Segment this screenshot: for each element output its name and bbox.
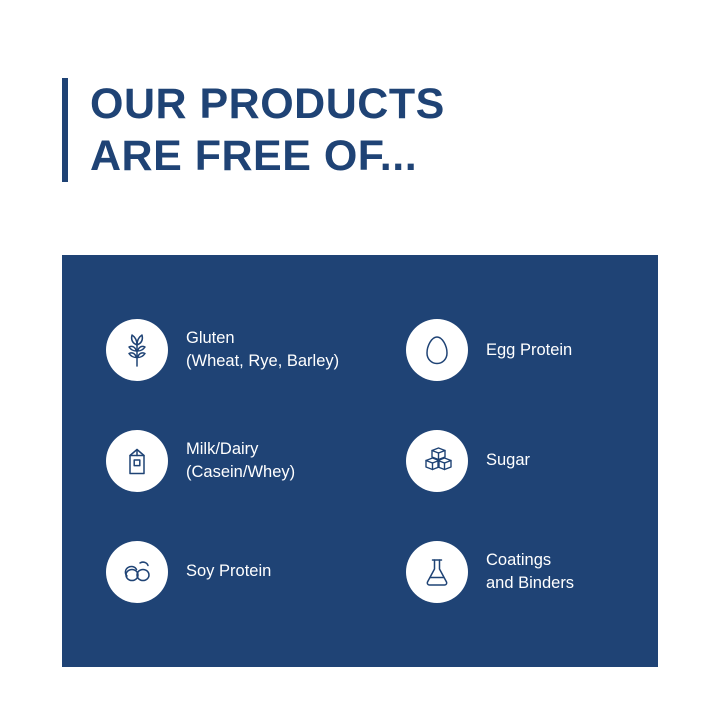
- wheat-icon: [106, 319, 168, 381]
- list-item: Soy Protein: [106, 541, 406, 603]
- infographic-page: OUR PRODUCTS ARE FREE OF... Glu: [0, 0, 720, 720]
- heading-accent-bar: [62, 78, 68, 182]
- milk-carton-icon: [106, 430, 168, 492]
- list-item-label: Milk/Dairy (Casein/Whey): [186, 438, 295, 484]
- list-item-label: Sugar: [486, 449, 530, 472]
- egg-icon: [406, 319, 468, 381]
- list-item-label: Coatings and Binders: [486, 549, 574, 595]
- list-item: Gluten (Wheat, Rye, Barley): [106, 319, 406, 381]
- list-item: Coatings and Binders: [406, 541, 658, 603]
- list-item-label: Gluten (Wheat, Rye, Barley): [186, 327, 339, 373]
- list-item: Egg Protein: [406, 319, 658, 381]
- free-from-panel: Gluten (Wheat, Rye, Barley) Egg Protein: [62, 255, 658, 667]
- page-heading: OUR PRODUCTS ARE FREE OF...: [62, 78, 445, 182]
- list-item-label: Egg Protein: [486, 339, 572, 362]
- flask-icon: [406, 541, 468, 603]
- list-item: Milk/Dairy (Casein/Whey): [106, 430, 406, 492]
- list-item-label: Soy Protein: [186, 560, 271, 583]
- free-from-list: Gluten (Wheat, Rye, Barley) Egg Protein: [62, 255, 658, 667]
- list-item: Sugar: [406, 430, 658, 492]
- sugar-cubes-icon: [406, 430, 468, 492]
- page-title: OUR PRODUCTS ARE FREE OF...: [90, 78, 445, 182]
- soybean-icon: [106, 541, 168, 603]
